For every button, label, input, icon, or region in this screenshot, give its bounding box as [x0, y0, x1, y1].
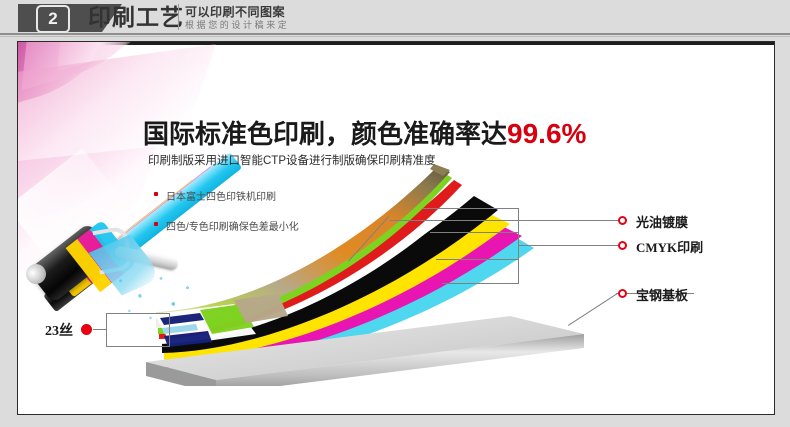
bracket-spine	[518, 208, 519, 284]
leader-horizontal-thickness	[93, 329, 107, 330]
callout-label-substrate: 宝钢基板	[636, 285, 688, 304]
frame-top-bar	[18, 42, 774, 45]
marker-dot-thickness	[81, 324, 92, 335]
header-rule-thin	[0, 36, 790, 37]
list-item: 四色/专色印刷确保色差最小化	[154, 218, 299, 233]
callout-label-varnish: 光油镀膜	[636, 212, 688, 231]
callout-box-thickness	[106, 313, 170, 347]
bracket-line-bottom	[442, 283, 518, 284]
header-section-number: 2	[36, 5, 70, 33]
header-divider	[178, 4, 179, 30]
bracket-line-2	[430, 232, 518, 233]
list-item: 日本富士四色印铁机印刷	[154, 188, 299, 203]
page-root: 2 印刷工艺 可以印刷不同图案 根据您的设计稿来定	[0, 0, 790, 427]
steel-base-plate	[138, 310, 588, 386]
main-subheadline: 印刷制版采用进口智能CTP设备进行制版确保印刷精准度	[148, 152, 436, 168]
leader-horizontal-varnish	[390, 220, 620, 221]
marker-ring-cmyk	[618, 241, 627, 250]
headline-percent: 99.6%	[507, 118, 586, 149]
main-headline: 国际标准色印刷，颜色准确率达99.6%	[143, 114, 586, 151]
marker-ring-substrate	[618, 289, 627, 298]
marker-ring-varnish	[618, 216, 627, 225]
header-rule-thick	[0, 33, 790, 35]
bracket-line-3	[436, 259, 518, 260]
bracket-line-top	[423, 208, 518, 209]
callout-label-thickness: 23丝	[45, 320, 73, 340]
leader-horizontal-cmyk	[518, 245, 618, 246]
feature-bullet-list: 日本富士四色印铁机印刷 四色/专色印刷确保色差最小化	[154, 188, 299, 248]
header-subtitle-secondary: 根据您的设计稿来定	[185, 18, 289, 31]
headline-text: 国际标准色印刷，颜色准确率达	[143, 119, 507, 149]
callout-label-cmyk: CMYK印刷	[636, 237, 703, 256]
page-title: 印刷工艺	[88, 2, 184, 32]
content-frame: 光油镀膜 CMYK印刷 宝钢基板 23丝 国际标准色印刷，颜色准确率达99.6%…	[17, 41, 775, 415]
page-header: 2 印刷工艺 可以印刷不同图案 根据您的设计稿来定	[0, 0, 790, 34]
